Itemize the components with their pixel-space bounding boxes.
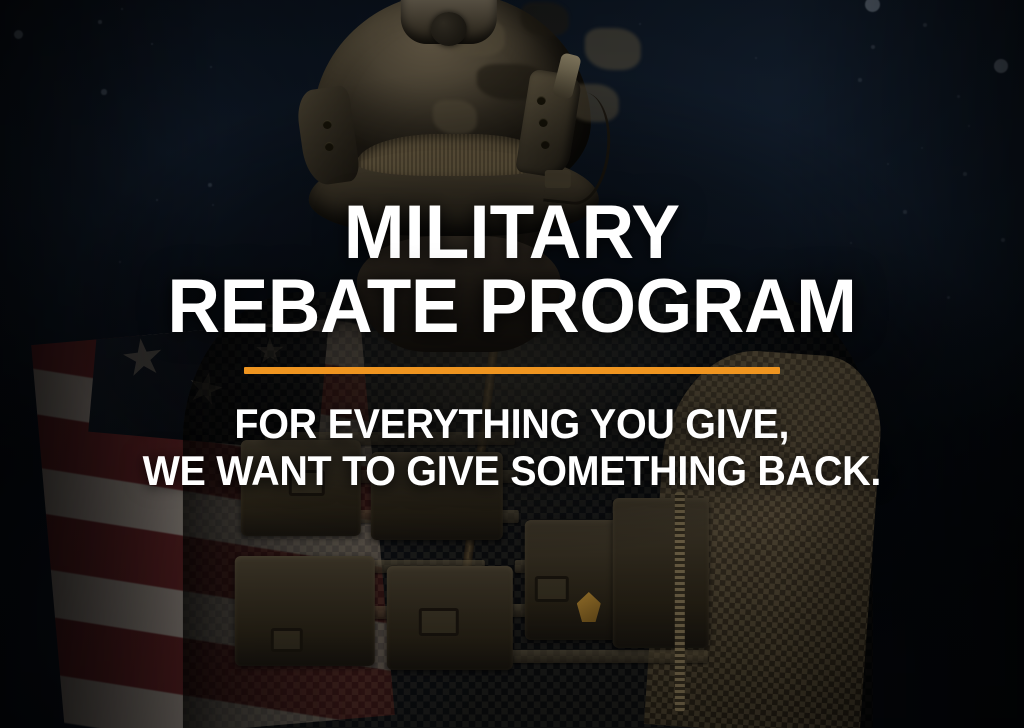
military-rebate-banner: MILITARY REBATE PROGRAM FOR EVERYTHING Y… [0, 0, 1024, 728]
banner-content: MILITARY REBATE PROGRAM FOR EVERYTHING Y… [0, 0, 1024, 728]
headline: MILITARY REBATE PROGRAM [167, 196, 856, 343]
subheadline-line-2: WE WANT TO GIVE SOMETHING BACK. [143, 447, 881, 494]
orange-divider-rule [244, 367, 780, 374]
headline-line-2: REBATE PROGRAM [167, 270, 856, 344]
subheadline-line-1: FOR EVERYTHING YOU GIVE, [143, 400, 881, 447]
headline-line-1: MILITARY [167, 196, 856, 270]
subheadline: FOR EVERYTHING YOU GIVE, WE WANT TO GIVE… [143, 400, 881, 494]
